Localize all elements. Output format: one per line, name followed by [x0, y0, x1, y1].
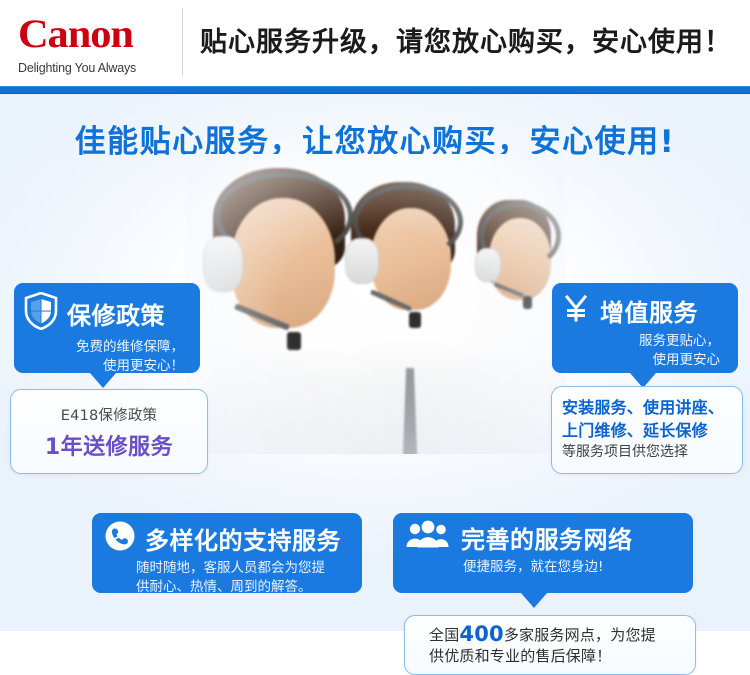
photo-fade [185, 154, 565, 454]
callout-value-added-detail: 安装服务、使用讲座、 上门维修、延长保修 等服务项目供您选择 [551, 386, 743, 474]
people-group-icon [405, 520, 451, 555]
callout-network-line-2: 供优质和专业的售后保障！ [429, 646, 695, 667]
callout-warranty-highlight: 1年送修服务 [11, 429, 207, 461]
card-title: 保修政策 [67, 296, 165, 331]
card-subtitle: 服务更贴心， 使用更安心 [562, 332, 728, 370]
card-title: 增值服务 [600, 293, 698, 328]
card-subtitle: 随时随地，客服人员都会为您提 供耐心、热情、周到的解答。 [104, 559, 350, 597]
header-divider [182, 8, 183, 76]
card-subtitle-line-1: 便捷服务，就在您身边! [463, 558, 681, 577]
callout-network-prefix: 全国 [429, 626, 459, 644]
card-subtitle-line-2: 使用更安心 [562, 351, 720, 370]
header-blue-rule [0, 86, 750, 94]
callout-warranty-small: E418保修政策 [11, 404, 207, 425]
card-title: 完善的服务网络 [461, 520, 633, 555]
card-subtitle: 免费的维修保障， 使用更安心！ [24, 338, 190, 376]
phone-support-icon [104, 520, 136, 557]
header-title: 贴心服务升级，请您放心购买，安心使用！ [200, 20, 732, 59]
card-warranty-policy[interactable]: 保修政策 免费的维修保障， 使用更安心！ [14, 283, 200, 373]
callout-network-suffix: 多家服务网点，为您提 [504, 626, 656, 644]
callout-value-line-3: 等服务项目供您选择 [562, 442, 742, 462]
card-diverse-support[interactable]: 多样化的支持服务 随时随地，客服人员都会为您提 供耐心、热情、周到的解答。 [92, 513, 362, 593]
call-center-agents-photo [185, 154, 565, 454]
callout-network-line-1: 全国400多家服务网点，为您提 [429, 624, 695, 646]
promo-stage: 佳能贴心服务，让您放心购买，安心使用! [0, 94, 750, 631]
card-tail [90, 373, 116, 388]
callout-value-line-2: 上门维修、延长保修 [562, 419, 742, 442]
card-subtitle-line-1: 免费的维修保障， [24, 338, 184, 357]
card-value-added-service[interactable]: 增值服务 服务更贴心， 使用更安心 [552, 283, 738, 373]
yen-icon [562, 292, 590, 329]
callout-network-detail: 全国400多家服务网点，为您提 供优质和专业的售后保障！ [404, 615, 696, 675]
card-subtitle: 便捷服务，就在您身边! [405, 558, 681, 577]
card-tail [521, 593, 547, 608]
canon-logo-wordmark: Canon [18, 14, 188, 54]
card-subtitle-line-1: 随时随地，客服人员都会为您提 [136, 559, 350, 578]
callout-value-line-1: 安装服务、使用讲座、 [562, 396, 742, 419]
page-header: Canon Delighting You Always 贴心服务升级，请您放心购… [0, 0, 750, 86]
card-title: 多样化的支持服务 [145, 521, 341, 556]
canon-logo-tagline: Delighting You Always [18, 61, 178, 75]
callout-network-number: 400 [459, 622, 503, 646]
card-subtitle-line-1: 服务更贴心， [562, 332, 720, 351]
callout-warranty-detail: E418保修政策 1年送修服务 [10, 389, 208, 474]
card-subtitle-line-2: 供耐心、热情、周到的解答。 [136, 578, 350, 597]
shield-icon [24, 292, 58, 335]
card-service-network[interactable]: 完善的服务网络 便捷服务，就在您身边! [393, 513, 693, 593]
canon-logo: Canon Delighting You Always [18, 14, 178, 75]
promo-banner: Canon Delighting You Always 贴心服务升级，请您放心购… [0, 0, 750, 631]
